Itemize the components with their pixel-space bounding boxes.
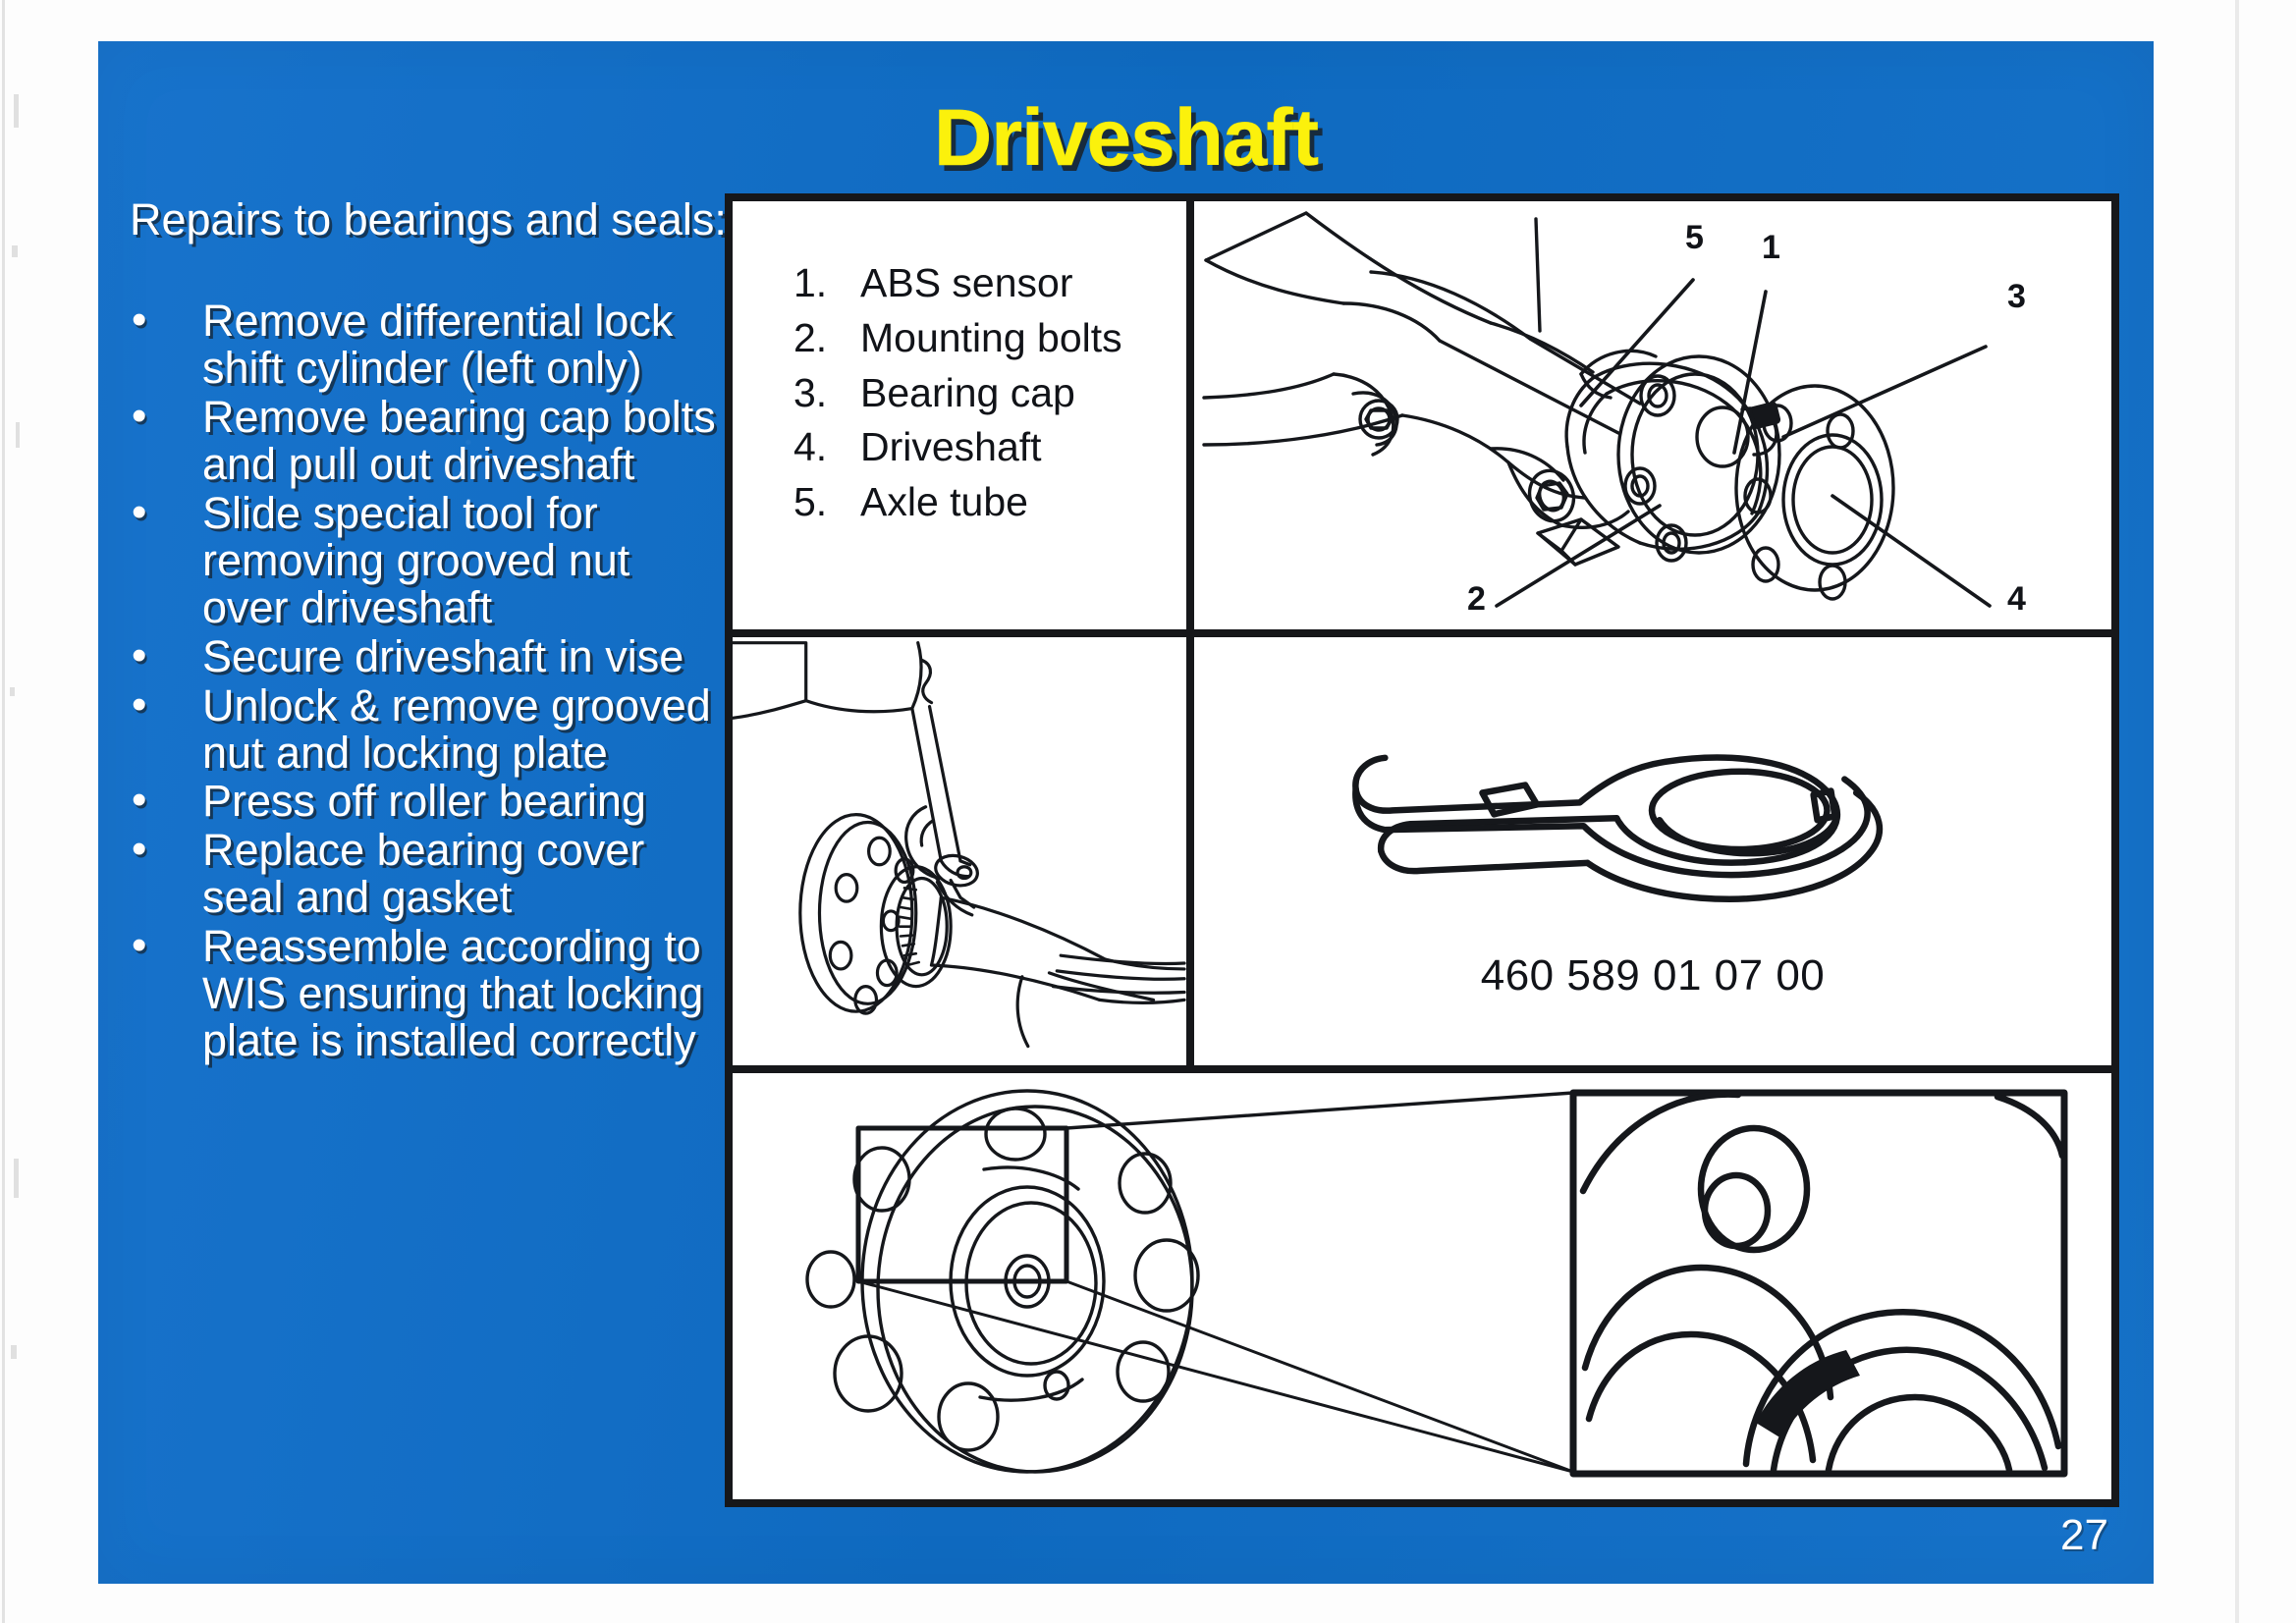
scan-speck bbox=[10, 687, 15, 696]
scan-speck bbox=[14, 94, 19, 128]
list-item-label: Replace bearing cover seal and gasket bbox=[202, 827, 727, 921]
lead-line: Repairs to bearings and seals: bbox=[130, 196, 727, 243]
legend-item: 3. Bearing cap bbox=[793, 366, 1122, 421]
bullet-icon: • bbox=[128, 633, 202, 679]
legend-item-label: Mounting bolts bbox=[860, 311, 1122, 366]
callout-label-4: 4 bbox=[2007, 580, 2026, 619]
bullet-icon: • bbox=[128, 490, 202, 536]
tool-in-use-drawing bbox=[733, 637, 1186, 1065]
tool-part-number: 460 589 01 07 00 bbox=[1194, 951, 2111, 1001]
figure-cell-special-wrench: 460 589 01 07 00 bbox=[1194, 637, 2111, 1073]
list-item-label: Slide special tool for removing grooved … bbox=[202, 490, 727, 631]
legend-item-number: 2. bbox=[793, 311, 860, 366]
callout-label-5: 5 bbox=[1685, 219, 1704, 257]
list-item-label: Secure driveshaft in vise bbox=[202, 633, 727, 680]
scan-speck bbox=[12, 245, 18, 257]
legend-item: 5. Axle tube bbox=[793, 475, 1122, 530]
legend-item-label: Bearing cap bbox=[860, 366, 1122, 421]
scan-page: Driveshaft Repairs to bearings and seals… bbox=[0, 0, 2296, 1623]
legend-item-number: 3. bbox=[793, 366, 860, 421]
bullet-icon: • bbox=[128, 778, 202, 824]
list-item-label: Press off roller bearing bbox=[202, 778, 727, 825]
legend-item: 2. Mounting bolts bbox=[793, 311, 1122, 366]
figure-cell-flange-detail bbox=[733, 1073, 2111, 1499]
list-item: • Secure driveshaft in vise bbox=[128, 633, 727, 680]
page-title: Driveshaft bbox=[98, 92, 2154, 185]
hub-assembly-drawing bbox=[1194, 201, 2111, 629]
list-item: • Unlock & remove grooved nut and lockin… bbox=[128, 682, 727, 777]
scan-edge-artifact bbox=[2, 0, 5, 1623]
list-item: • Replace bearing cover seal and gasket bbox=[128, 827, 727, 921]
legend-item-number: 1. bbox=[793, 256, 860, 311]
list-item: • Remove bearing cap bolts and pull out … bbox=[128, 394, 727, 488]
legend-item-label: ABS sensor bbox=[860, 256, 1122, 311]
scan-speck bbox=[11, 1345, 17, 1359]
callout-label-3: 3 bbox=[2007, 278, 2026, 316]
list-item: • Slide special tool for removing groove… bbox=[128, 490, 727, 631]
parts-legend-list: 1. ABS sensor 2. Mounting bolts 3. Beari… bbox=[793, 256, 1122, 530]
legend-item-number: 5. bbox=[793, 475, 860, 530]
special-wrench-drawing bbox=[1194, 637, 2111, 1065]
list-item-label: Remove bearing cap bolts and pull out dr… bbox=[202, 394, 727, 488]
list-item: • Press off roller bearing bbox=[128, 778, 727, 825]
scan-speck bbox=[14, 1159, 19, 1198]
list-item: • Remove differential lock shift cylinde… bbox=[128, 298, 727, 392]
legend-item-number: 4. bbox=[793, 420, 860, 475]
callout-label-1: 1 bbox=[1762, 229, 1780, 267]
scan-edge-artifact-right bbox=[2235, 0, 2239, 1623]
list-item-label: Unlock & remove grooved nut and locking … bbox=[202, 682, 727, 777]
bullet-icon: • bbox=[128, 298, 202, 344]
list-item-label: Reassemble according to WIS ensuring tha… bbox=[202, 923, 727, 1064]
flange-detail-drawing bbox=[733, 1073, 2111, 1499]
bullet-icon: • bbox=[128, 923, 202, 969]
legend-item-label: Driveshaft bbox=[860, 420, 1122, 475]
figure-cell-tool-in-use bbox=[733, 637, 1194, 1073]
slide-canvas: Driveshaft Repairs to bearings and seals… bbox=[98, 41, 2154, 1584]
legend-item: 4. Driveshaft bbox=[793, 420, 1122, 475]
legend-item-label: Axle tube bbox=[860, 475, 1122, 530]
page-number: 27 bbox=[2060, 1511, 2108, 1560]
legend-item: 1. ABS sensor bbox=[793, 256, 1122, 311]
list-item: • Reassemble according to WIS ensuring t… bbox=[128, 923, 727, 1064]
bullet-icon: • bbox=[128, 827, 202, 873]
scan-speck bbox=[16, 422, 20, 448]
bullet-icon: • bbox=[128, 394, 202, 440]
bullet-icon: • bbox=[128, 682, 202, 729]
figure-cell-hub-assembly: 5 1 3 2 4 bbox=[1194, 201, 2111, 637]
list-item-label: Remove differential lock shift cylinder … bbox=[202, 298, 727, 392]
bullet-list: • Remove differential lock shift cylinde… bbox=[128, 298, 727, 1064]
figure-cell-legend: 1. ABS sensor 2. Mounting bolts 3. Beari… bbox=[733, 201, 1194, 637]
figure-panel-grid: 1. ABS sensor 2. Mounting bolts 3. Beari… bbox=[725, 193, 2119, 1507]
callout-label-2: 2 bbox=[1467, 580, 1486, 619]
body-text-column: Repairs to bearings and seals: • Remove … bbox=[128, 196, 727, 1066]
